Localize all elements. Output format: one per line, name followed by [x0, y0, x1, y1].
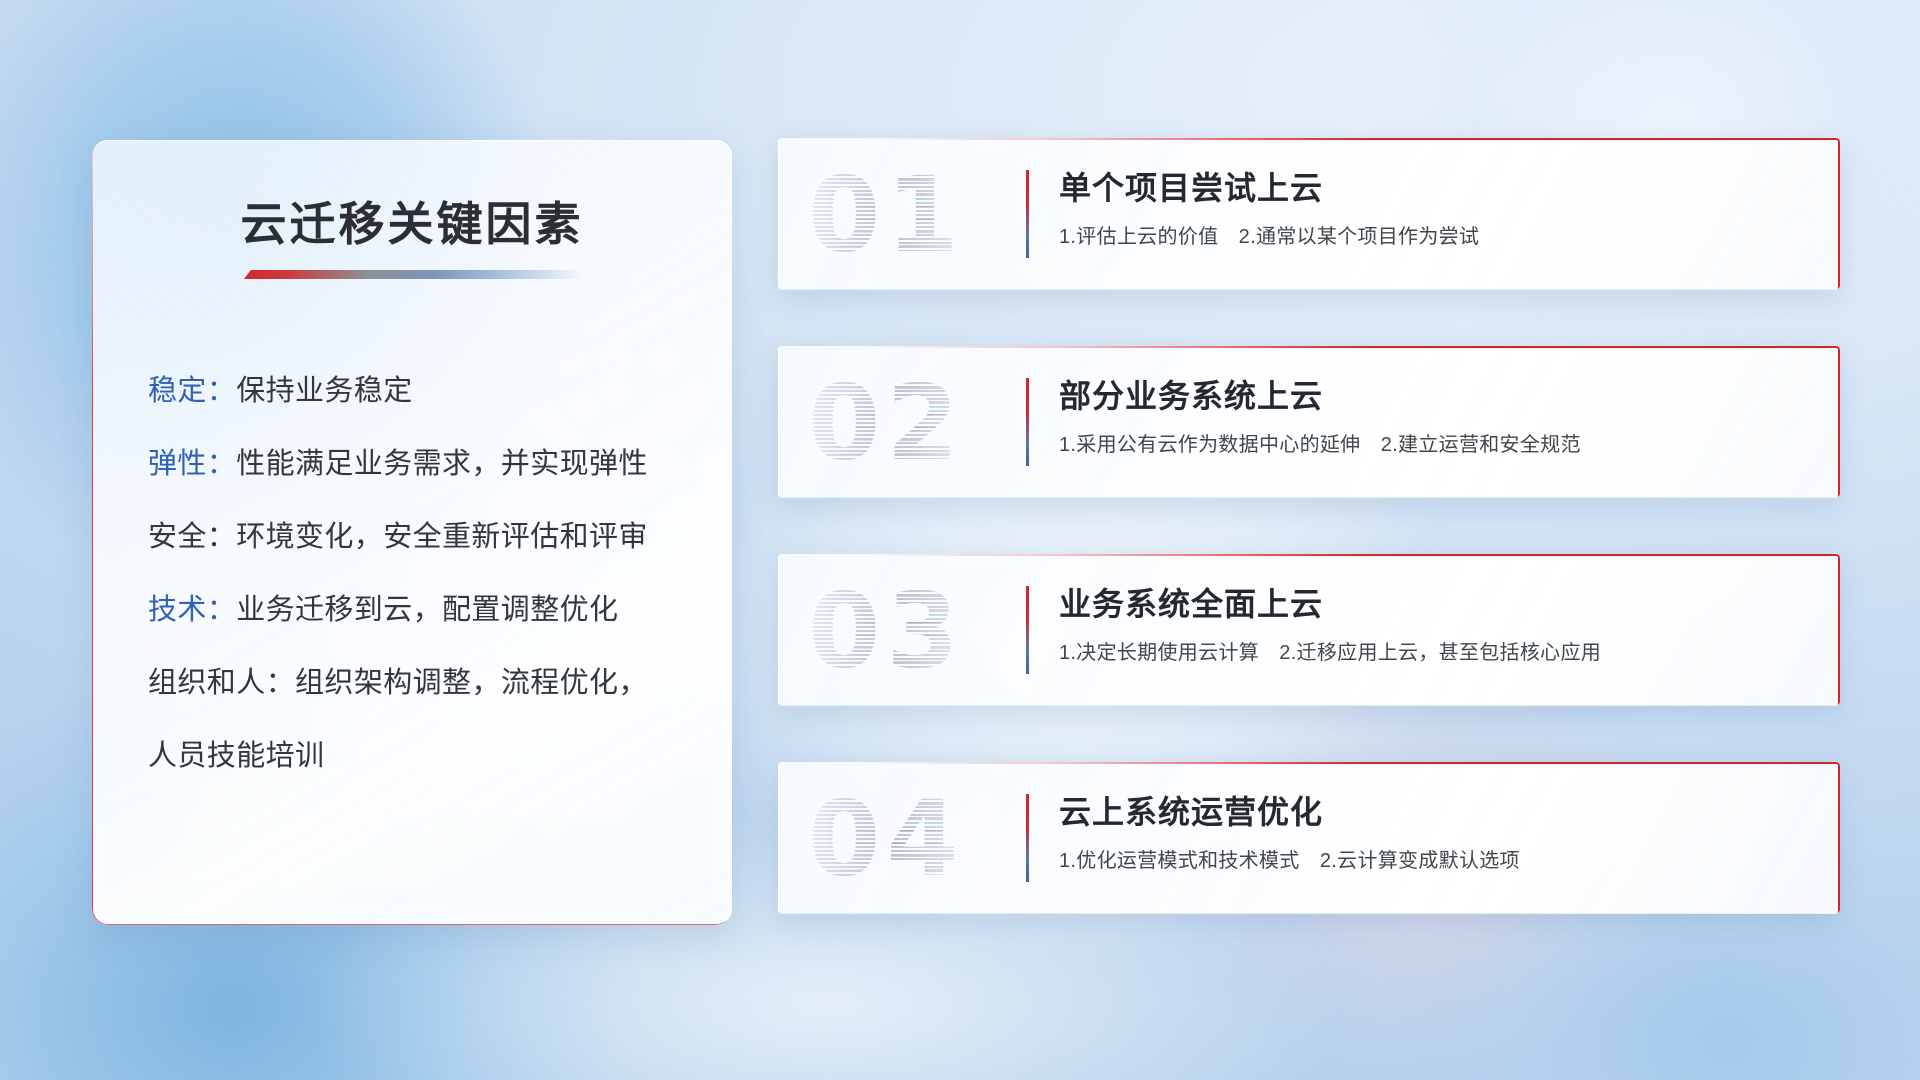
stage-number-accent-overlay: 03 — [808, 570, 994, 692]
card-divider-bar — [1026, 586, 1029, 674]
card-body: 业务系统全面上云1.决定长期使用云计算 2.迁移应用上云，甚至包括核心应用 — [1059, 582, 1816, 668]
key-factors-panel: 云迁移关键因素 稳定：保持业务稳定弹性：性能满足业务需求，并实现弹性安全：环境变… — [92, 140, 732, 925]
migration-stage-card[interactable]: 0101单个项目尝试上云1.评估上云的价值 2.通常以某个项目作为尝试 — [778, 138, 1840, 290]
card-title: 业务系统全面上云 — [1059, 582, 1816, 626]
key-factor-text: 业务迁移到云，配置调整优化 — [236, 594, 618, 626]
key-factor-text: 性能满足业务需求，并实现弹性 — [236, 448, 648, 480]
key-factor-label: 技术： — [148, 594, 236, 626]
card-divider-bar — [1026, 170, 1029, 258]
key-factor-item: 人员技能培训 — [92, 720, 732, 793]
migration-stage-card[interactable]: 0202部分业务系统上云1.采用公有云作为数据中心的延伸 2.建立运营和安全规范 — [778, 346, 1840, 498]
card-body: 云上系统运营优化1.优化运营模式和技术模式 2.云计算变成默认选项 — [1059, 790, 1816, 876]
key-factor-label: 稳定： — [148, 375, 236, 407]
key-factor-item: 组织和人：组织架构调整，流程优化， — [92, 647, 732, 720]
key-factor-label: 弹性： — [148, 448, 236, 480]
card-body: 单个项目尝试上云1.评估上云的价值 2.通常以某个项目作为尝试 — [1059, 166, 1816, 252]
key-factor-text: 保持业务稳定 — [236, 375, 412, 407]
stage-number-watermark: 0101 — [808, 154, 994, 276]
stage-number-watermark: 0202 — [808, 362, 994, 484]
key-factor-text: 人员技能培训 — [148, 740, 324, 772]
stage-number-watermark: 0404 — [808, 778, 994, 900]
key-factor-text: 组织架构调整，流程优化， — [295, 667, 648, 699]
key-factor-item: 技术：业务迁移到云，配置调整优化 — [92, 574, 732, 647]
key-factor-item: 弹性：性能满足业务需求，并实现弹性 — [92, 428, 732, 501]
title-underline-gradient-bar — [244, 270, 584, 279]
key-factors-list: 稳定：保持业务稳定弹性：性能满足业务需求，并实现弹性安全：环境变化，安全重新评估… — [92, 355, 732, 793]
card-body: 部分业务系统上云1.采用公有云作为数据中心的延伸 2.建立运营和安全规范 — [1059, 374, 1816, 460]
card-divider-bar — [1026, 794, 1029, 882]
migration-stage-card-list: 0101单个项目尝试上云1.评估上云的价值 2.通常以某个项目作为尝试0202部… — [778, 138, 1840, 970]
card-title: 单个项目尝试上云 — [1059, 166, 1816, 210]
card-subtitle: 1.采用公有云作为数据中心的延伸 2.建立运营和安全规范 — [1059, 430, 1816, 460]
migration-stage-card[interactable]: 0404云上系统运营优化1.优化运营模式和技术模式 2.云计算变成默认选项 — [778, 762, 1840, 914]
stage-number-accent-overlay: 02 — [808, 362, 994, 484]
card-title: 云上系统运营优化 — [1059, 790, 1816, 834]
stage-number-accent-overlay: 01 — [808, 154, 994, 276]
card-subtitle: 1.优化运营模式和技术模式 2.云计算变成默认选项 — [1059, 846, 1816, 876]
key-factor-item: 安全：环境变化，安全重新评估和评审 — [92, 501, 732, 574]
key-factor-item: 稳定：保持业务稳定 — [92, 355, 732, 428]
key-factor-label: 安全： — [148, 521, 236, 553]
card-divider-bar — [1026, 378, 1029, 466]
key-factor-text: 环境变化，安全重新评估和评审 — [236, 521, 648, 553]
migration-stage-card[interactable]: 0303业务系统全面上云1.决定长期使用云计算 2.迁移应用上云，甚至包括核心应… — [778, 554, 1840, 706]
page-title: 云迁移关键因素 — [92, 188, 732, 254]
card-title: 部分业务系统上云 — [1059, 374, 1816, 418]
stage-number-watermark: 0303 — [808, 570, 994, 692]
stage-number-accent-overlay: 04 — [808, 778, 994, 900]
key-factor-label: 组织和人： — [148, 667, 295, 699]
card-subtitle: 1.评估上云的价值 2.通常以某个项目作为尝试 — [1059, 222, 1816, 252]
card-subtitle: 1.决定长期使用云计算 2.迁移应用上云，甚至包括核心应用 — [1059, 638, 1816, 668]
